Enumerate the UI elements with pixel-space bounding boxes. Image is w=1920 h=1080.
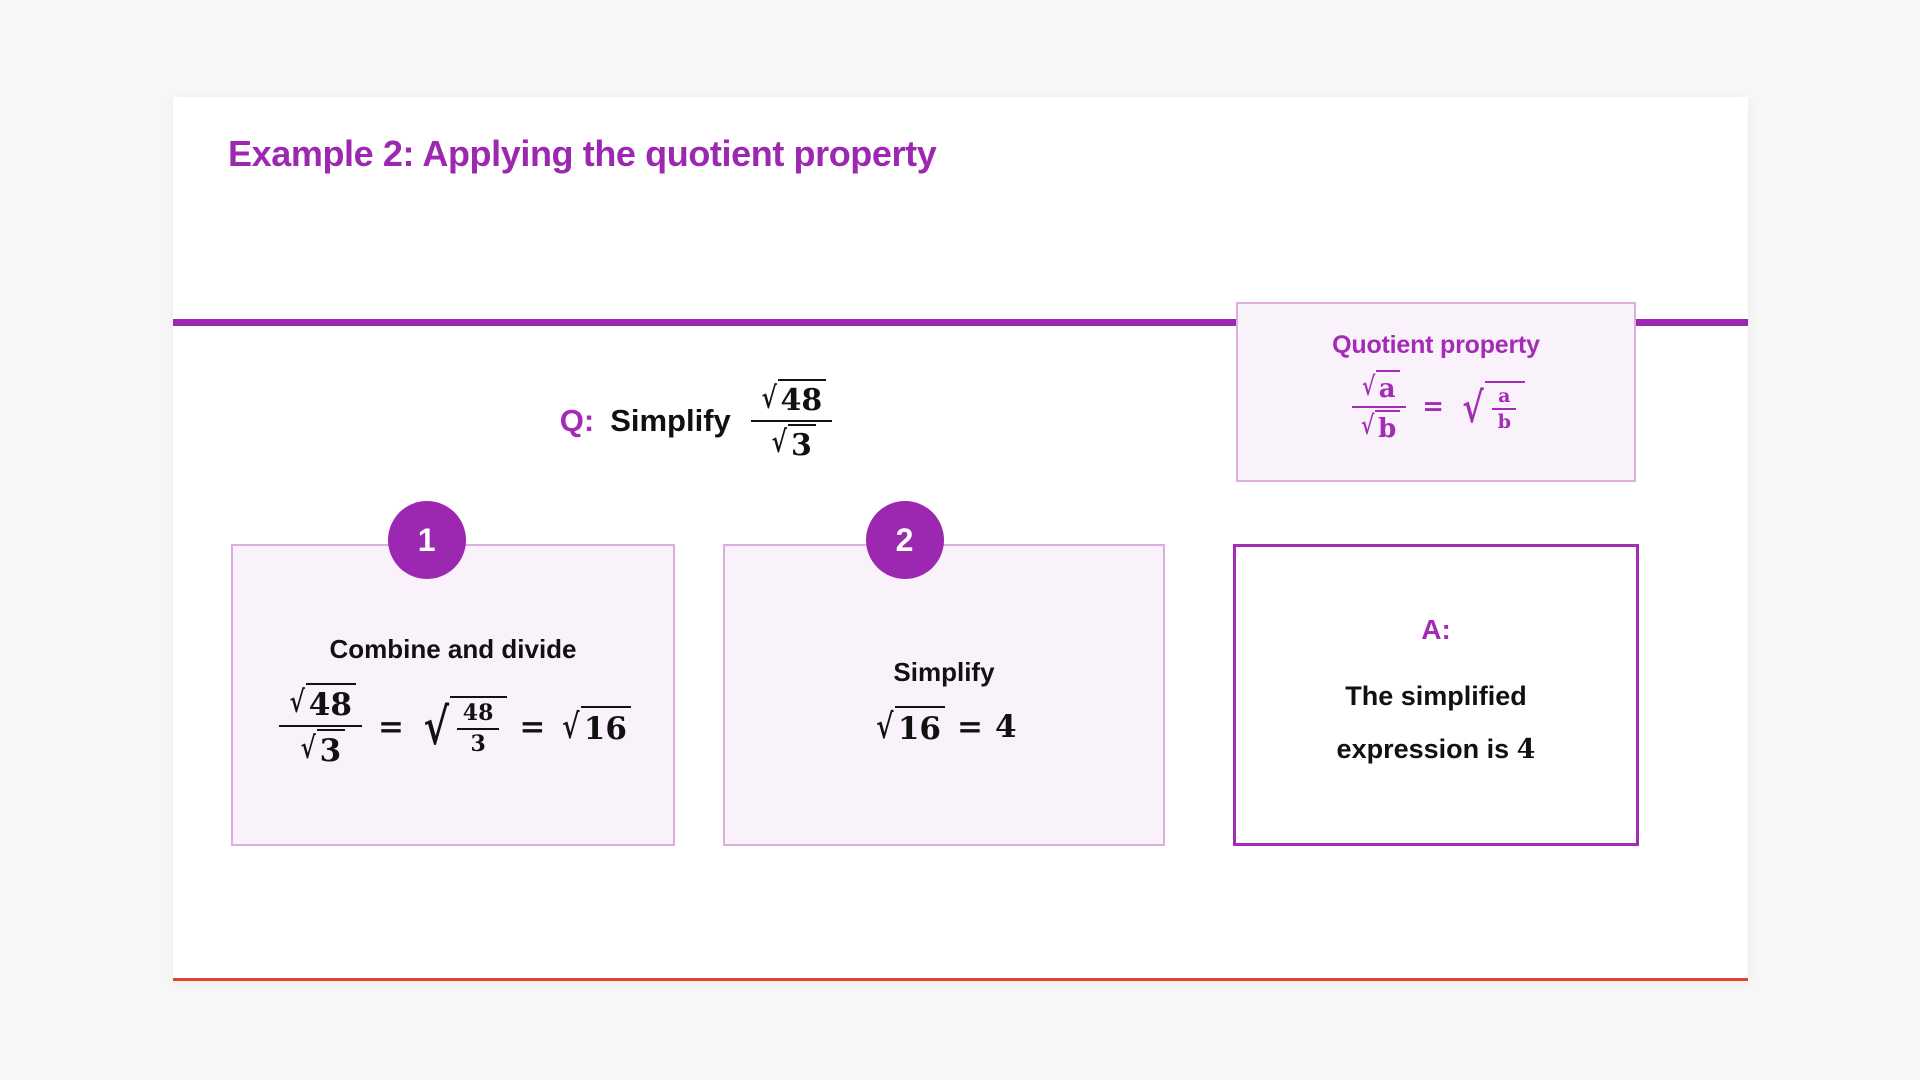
slide-card: Example 2: Applying the quotient propert… xyxy=(173,97,1748,981)
question-row: Q: Simplify √ 48 √ 3 xyxy=(173,379,1223,463)
step1-equals-1: = xyxy=(378,709,404,745)
answer-label: A: xyxy=(1421,614,1451,646)
step-title-1: Combine and divide xyxy=(329,634,576,665)
step-card-2: 2 Simplify √ 16 = 4 xyxy=(723,544,1165,846)
quotient-right-numerator: a xyxy=(1492,386,1516,411)
slide-header: Example 2: Applying the quotient propert… xyxy=(173,97,1748,224)
step1-equals-2: = xyxy=(519,709,545,745)
quotient-right-denominator: b xyxy=(1492,410,1517,434)
step-badge-2: 2 xyxy=(866,501,944,579)
step2-radicand: 16 xyxy=(895,706,945,747)
quotient-property-title: Quotient property xyxy=(1332,331,1540,360)
question-numerator-radicand: 48 xyxy=(778,379,827,419)
step-badge-1: 1 xyxy=(388,501,466,579)
answer-value: 4 xyxy=(1517,734,1536,765)
step-expression-1: √ 48 √ 3 = √ xyxy=(275,683,631,769)
quotient-property-formula: √ a √ b = √ a b xyxy=(1347,370,1525,445)
step-card-1: 1 Combine and divide √ 48 √ 3 xyxy=(231,544,675,846)
step2-result: 4 xyxy=(995,709,1017,745)
answer-card: A: The simplified expression is 4 xyxy=(1233,544,1639,846)
quotient-property-panel: Quotient property √ a √ b = √ xyxy=(1236,302,1636,482)
question-denominator-radicand: 3 xyxy=(788,424,816,464)
step-expression-2: √ 16 = 4 xyxy=(871,706,1016,747)
bottom-accent-rule xyxy=(173,978,1748,981)
step1-term2-denominator: 3 xyxy=(464,730,491,757)
question-expression: √ 48 √ 3 xyxy=(747,379,836,463)
quotient-left-numerator: a xyxy=(1376,370,1400,405)
step1-term1-denominator: 3 xyxy=(317,729,346,770)
step1-term1-numerator: 48 xyxy=(306,683,356,724)
step-title-2: Simplify xyxy=(893,657,994,688)
steps-row: 1 Combine and divide √ 48 √ 3 xyxy=(173,544,1748,854)
quotient-equals: = xyxy=(1422,392,1444,422)
step1-term2-numerator: 48 xyxy=(457,701,500,729)
step1-term3-radicand: 16 xyxy=(581,706,631,747)
page-title: Example 2: Applying the quotient propert… xyxy=(228,133,936,175)
quotient-left-denominator: b xyxy=(1375,410,1400,445)
step2-equals: = xyxy=(957,709,983,745)
answer-text-before: The simplified expression is xyxy=(1337,681,1527,764)
answer-text: The simplified expression is 4 xyxy=(1301,670,1571,776)
question-label: Q: xyxy=(560,403,594,439)
question-prompt: Simplify xyxy=(610,403,731,439)
